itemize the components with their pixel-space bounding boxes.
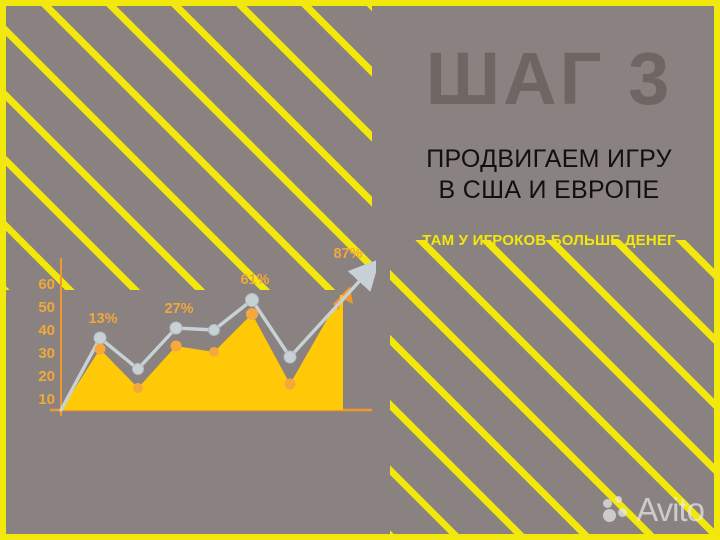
area-marker-2 [133, 383, 143, 393]
area-marker-1 [95, 344, 106, 355]
headline-line-2: В США И ЕВРОПЕ [378, 175, 720, 206]
area-marker-4 [209, 347, 219, 357]
data-label-87: 87% [333, 246, 362, 262]
marker-point-2 [133, 364, 144, 375]
marker-point-1 [94, 332, 106, 344]
headline: ПРОДВИГАЕМ ИГРУ В США И ЕВРОПЕ [378, 144, 720, 206]
promo-slide: 60 50 40 30 20 10 [0, 0, 720, 540]
y-tick-60: 60 [38, 276, 55, 293]
growth-chart: 60 50 40 30 20 10 [24, 238, 376, 428]
y-tick-10: 10 [38, 391, 55, 408]
y-axis-tick-labels: 60 50 40 30 20 10 [38, 276, 55, 408]
y-tick-40: 40 [38, 322, 55, 339]
area-marker-3 [171, 341, 182, 352]
data-label-13: 13% [88, 311, 117, 327]
chart-data-labels: 13% 27% 61% 87% [88, 246, 362, 327]
data-label-61: 61% [240, 272, 269, 288]
marker-point-4 [209, 325, 220, 336]
y-tick-20: 20 [38, 368, 55, 385]
text-column: ШАГ 3 ПРОДВИГАЕМ ИГРУ В США И ЕВРОПЕ ТАМ… [378, 0, 720, 440]
step-title: ШАГ 3 [378, 42, 720, 116]
area-marker-5 [246, 308, 258, 320]
y-tick-30: 30 [38, 345, 55, 362]
y-tick-50: 50 [38, 299, 55, 316]
avito-dots-icon [603, 496, 633, 524]
avito-wordmark: Avito [636, 493, 704, 526]
marker-point-3 [170, 322, 182, 334]
data-label-27: 27% [164, 301, 193, 317]
area-marker-6 [285, 379, 296, 390]
area-series-end-edge [340, 295, 343, 410]
marker-point-6 [284, 351, 296, 363]
chart-svg: 60 50 40 30 20 10 [24, 238, 376, 428]
headline-line-1: ПРОДВИГАЕМ ИГРУ [378, 144, 720, 175]
avito-watermark: Avito [603, 493, 704, 526]
subline: ТАМ У ИГРОКОВ БОЛЬШЕ ДЕНЕГ [378, 232, 720, 249]
marker-point-5 [246, 294, 259, 307]
